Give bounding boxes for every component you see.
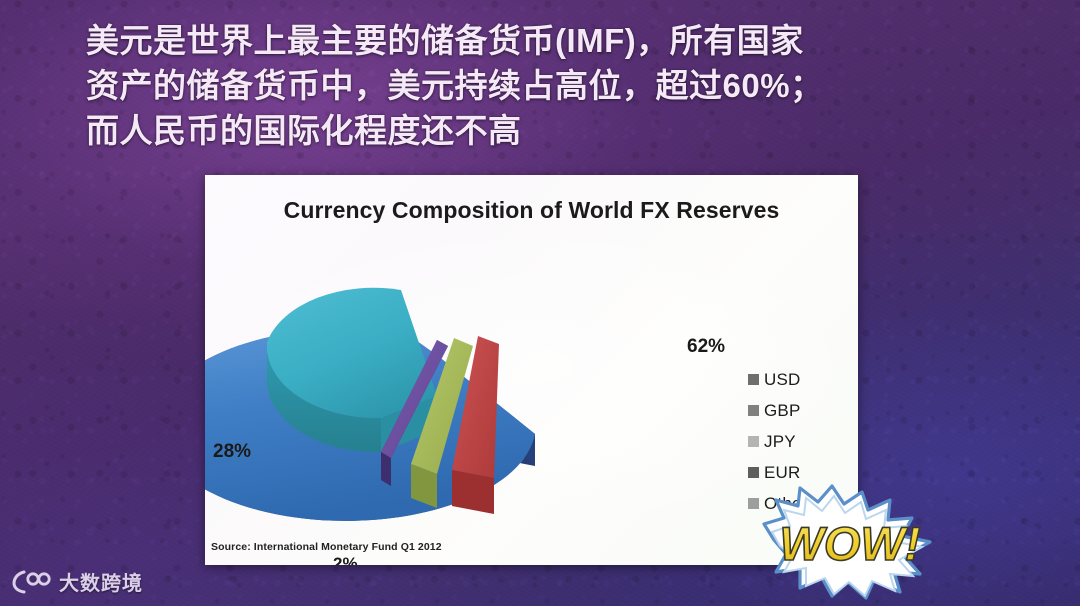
legend-swatch-jpy	[748, 436, 759, 447]
legend-item-gbp: GBP	[748, 395, 858, 426]
legend-swatch-eur	[748, 467, 759, 478]
pie-chart: 62% 28% 2% 4% 4% USD GBP JPY	[205, 230, 858, 530]
chart-title: Currency Composition of World FX Reserve…	[205, 197, 858, 224]
chart-source-note: Source: International Monetary Fund Q1 2…	[211, 541, 442, 553]
wow-sticker-text: WOW!	[780, 517, 921, 570]
legend-swatch-usd	[748, 374, 759, 385]
chart-panel: Currency Composition of World FX Reserve…	[205, 175, 858, 565]
legend-swatch-others	[748, 498, 759, 509]
legend-swatch-gbp	[748, 405, 759, 416]
pie-label-jpy: 4%	[383, 563, 408, 565]
legend-item-jpy: JPY	[748, 426, 858, 457]
legend-label-usd: USD	[764, 370, 801, 390]
legend-label-jpy: JPY	[764, 432, 796, 452]
page-title: 美元是世界上最主要的储备货币(IMF)，所有国家 资产的储备货币中，美元持续占高…	[86, 18, 986, 154]
wow-sticker-svg: WOW!	[762, 484, 944, 600]
slide-canvas: 美元是世界上最主要的储备货币(IMF)，所有国家 资产的储备货币中，美元持续占高…	[0, 0, 1080, 606]
legend-label-eur: EUR	[764, 463, 801, 483]
pie-label-usd: 62%	[687, 336, 725, 358]
pie-label-eur: 28%	[213, 441, 251, 463]
legend-item-usd: USD	[748, 364, 858, 395]
bracket-infinity-logo-icon	[12, 570, 52, 594]
legend-label-gbp: GBP	[764, 401, 801, 421]
watermark: 大数跨境	[12, 567, 143, 596]
watermark-text: 大数跨境	[59, 567, 143, 596]
pie-label-gbp: 2%	[333, 554, 358, 565]
wow-sticker: WOW!	[762, 484, 944, 600]
